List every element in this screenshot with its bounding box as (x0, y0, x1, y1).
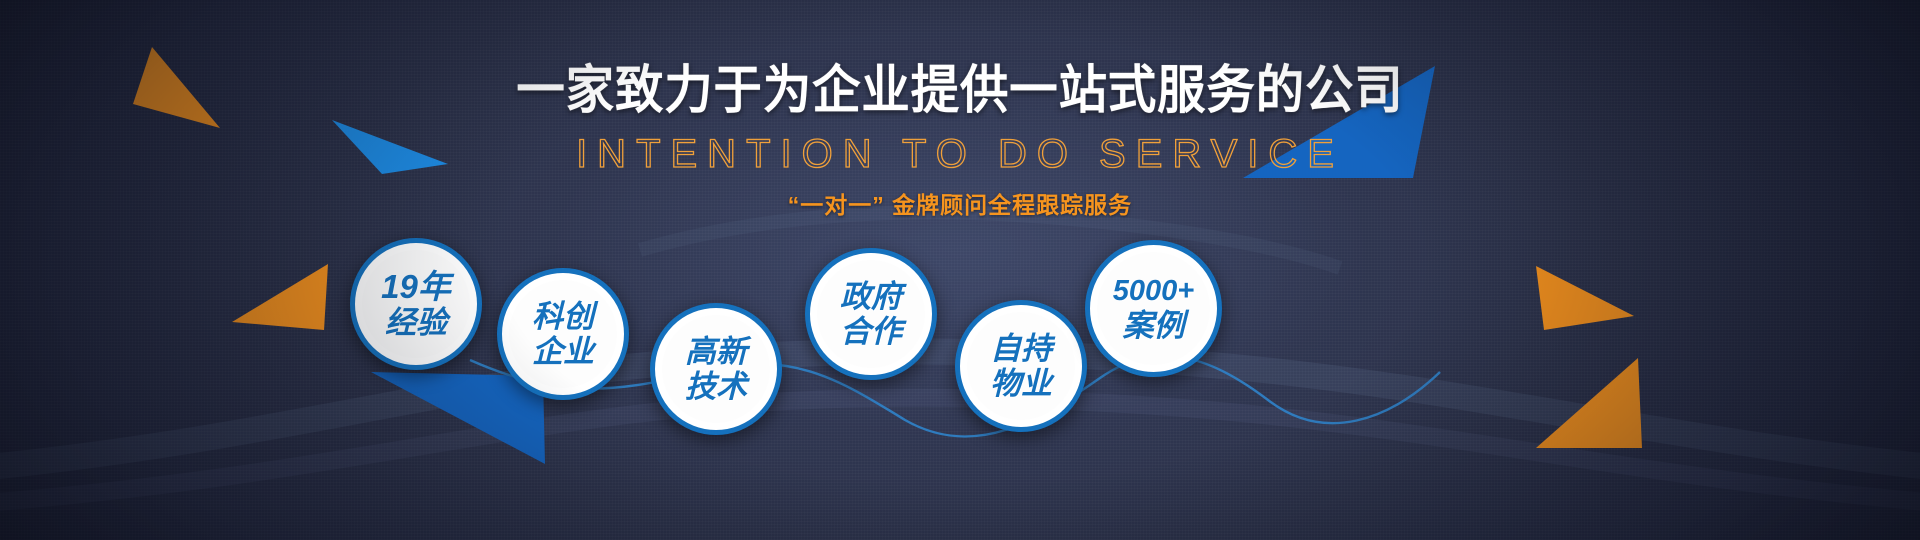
bubble-line1: 19年 (381, 268, 451, 305)
orange-triangle-mid-right (1530, 260, 1640, 340)
orange-triangle-bottom-right (1530, 352, 1650, 462)
bubble-line1: 科创 (532, 299, 594, 334)
bubble-line2: 物业 (990, 366, 1052, 401)
english-subtitle: INTENTION TO DO SERVICE (0, 130, 1920, 178)
bubble-cases[interactable]: 5000+ 案例 (1085, 240, 1222, 377)
slogan-text: “一对一” 金牌顾问全程跟踪服务 (0, 190, 1920, 220)
bubble-line2: 技术 (685, 369, 747, 404)
bubble-line2: 合作 (840, 314, 902, 349)
bubble-line2: 经验 (385, 305, 447, 340)
bubble-property[interactable]: 自持 物业 (955, 300, 1087, 432)
hero-banner: 一家致力于为企业提供一站式服务的公司 INTENTION TO DO SERVI… (0, 0, 1920, 540)
bubble-government[interactable]: 政府 合作 (805, 248, 937, 380)
bubble-line1: 5000+ (1113, 275, 1194, 308)
bubble-line1: 高新 (685, 334, 747, 369)
bubble-line2: 案例 (1123, 308, 1185, 343)
bubble-hightech[interactable]: 高新 技术 (650, 303, 782, 435)
bubble-line2: 企业 (532, 334, 594, 369)
bubble-experience[interactable]: 19年 经验 (350, 238, 482, 370)
bubble-innovation[interactable]: 科创 企业 (497, 268, 629, 400)
headline-group: 一家致力于为企业提供一站式服务的公司 INTENTION TO DO SERVI… (0, 62, 1920, 220)
orange-triangle-mid-left (228, 260, 338, 340)
bubble-line1: 政府 (840, 279, 902, 314)
page-title: 一家致力于为企业提供一站式服务的公司 (67, 62, 1853, 120)
bubble-line1: 自持 (990, 331, 1052, 366)
